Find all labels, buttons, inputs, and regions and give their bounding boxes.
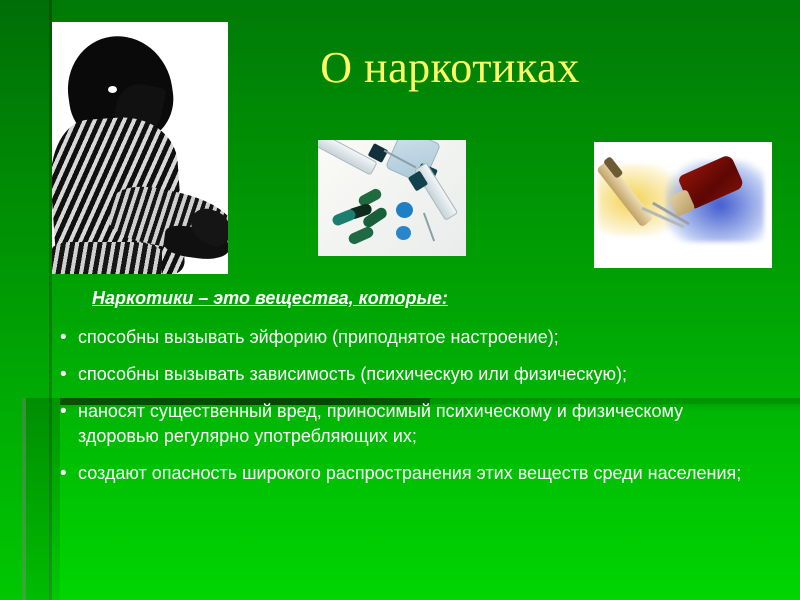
- bullet-text: способны вызывать зависимость (психическ…: [78, 362, 760, 387]
- bullet-dot-icon: •: [60, 461, 78, 486]
- bullet-item: • способны вызывать зависимость (психиче…: [60, 362, 760, 387]
- bullet-text: способны вызывать эйфорию (приподнятое н…: [78, 325, 760, 350]
- person-eye-highlight: [108, 86, 117, 93]
- bullet-text: наносят существенный вред, приносимый пс…: [78, 399, 760, 449]
- bullet-item: • создают опасность широкого распростран…: [60, 461, 760, 486]
- slide-body: Наркотики – это вещества, которые: • спо…: [60, 288, 760, 498]
- bullet-dot-icon: •: [60, 399, 78, 424]
- bullet-item: • наносят существенный вред, приносимый …: [60, 399, 760, 449]
- person-illustration: [52, 22, 228, 274]
- person-lower-stripes: [52, 242, 162, 274]
- photo-syringes-and-pills: [318, 140, 466, 256]
- slide-title: О наркотиках: [240, 42, 660, 94]
- bullet-dot-icon: •: [60, 362, 78, 387]
- bullet-dot-icon: •: [60, 325, 78, 350]
- photo-syringe-and-red-vial: [594, 142, 772, 268]
- photo-person: [52, 22, 228, 274]
- background-lower-left-panel: [22, 398, 60, 600]
- bullet-text: создают опасность широкого распространен…: [78, 461, 760, 486]
- background-lower-left-edge: [22, 398, 26, 600]
- slide-canvas: О наркотиках: [0, 0, 800, 600]
- lead-statement: Наркотики – это вещества, которые:: [92, 288, 760, 309]
- bullet-item: • способны вызывать эйфорию (приподнятое…: [60, 325, 760, 350]
- round-tablet-shape: [396, 226, 411, 240]
- round-tablet-shape: [396, 202, 413, 218]
